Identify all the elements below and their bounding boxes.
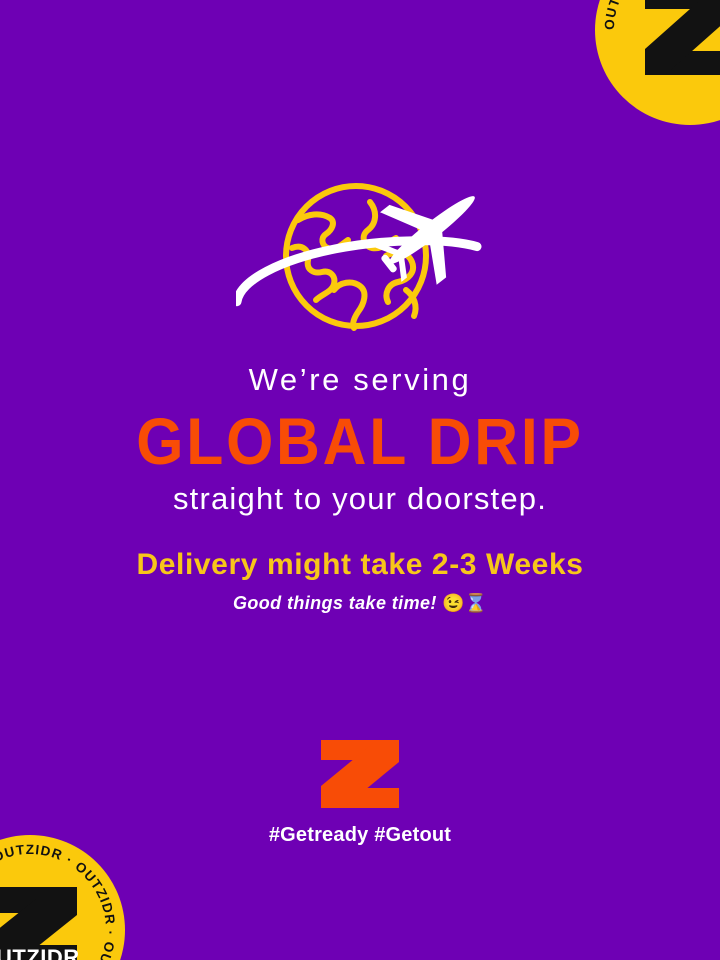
outzidr-sticker-badge-top-right: OUTZIDR · OUTZIDR · OUTZIDR · OUTZIDR · (595, 0, 720, 125)
headline-line-global-drip: GLOBAL DRIP (29, 402, 691, 480)
headline-line-doorstep: straight to your doorstep. (0, 478, 720, 520)
brand-z-logo (321, 740, 399, 808)
delivery-time-text: Delivery might take 2-3 Weeks (0, 546, 720, 584)
headline-block: We’re serving GLOBAL DRIP straight to yo… (0, 360, 720, 520)
badge-core-wordmark: OUTZIDR (0, 945, 80, 960)
wink-hourglass-emoji: 😉⌛ (442, 593, 487, 613)
headline-line-serving: We’re serving (0, 360, 720, 400)
delivery-tagline: Good things take time! 😉⌛ (0, 590, 720, 616)
delivery-notice-block: Delivery might take 2-3 Weeks Good thing… (0, 546, 720, 616)
outzidr-sticker-badge-bottom-left: OUTZIDR · OUTZIDR · OUTZIDR · OUTZIDR · … (0, 835, 125, 960)
promo-poster: OUTZIDR · OUTZIDR · OUTZIDR · OUTZIDR · (0, 0, 720, 960)
badge-core-z-mark-top-right (631, 0, 720, 89)
globe-with-airplane-icon (236, 178, 488, 336)
delivery-tagline-text: Good things take time! (233, 593, 437, 613)
footer-brand-block: #Getready #Getout (0, 740, 720, 847)
badge-core-z-wordmark-bottom-left: OUTZIDR (0, 871, 89, 960)
